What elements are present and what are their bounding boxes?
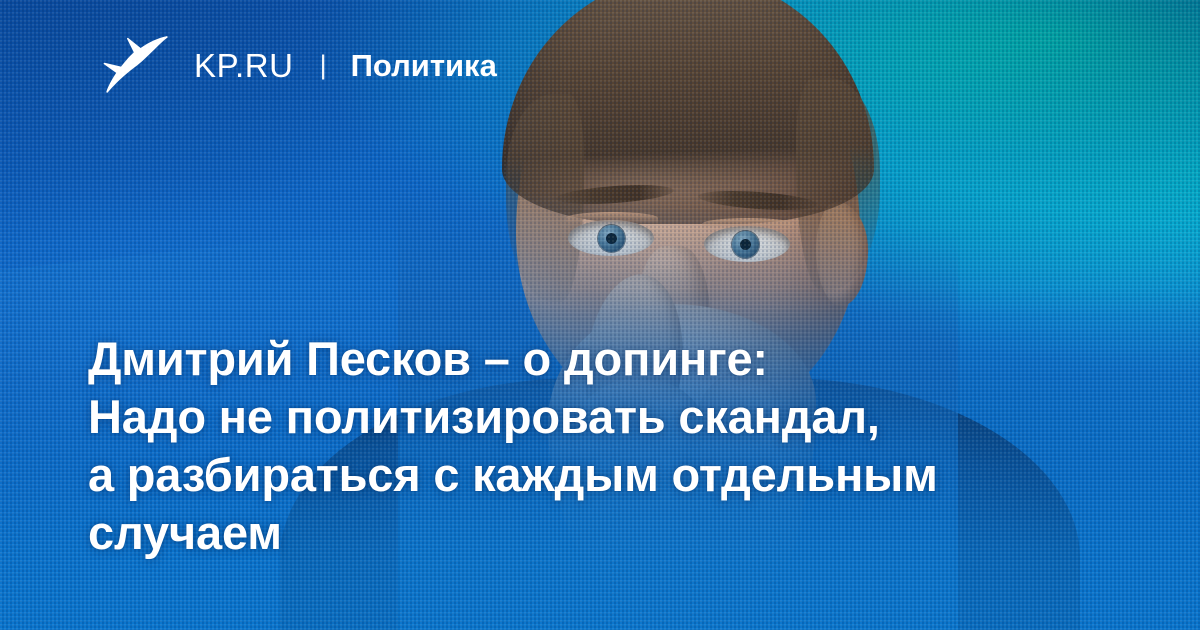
news-share-card: KP.RU | Политика Дмитрий Песков – о допи… [0, 0, 1200, 630]
eye-right [704, 226, 790, 262]
headline-line-2: Надо не политизировать скандал, [88, 388, 1048, 446]
brand-name[interactable]: KP.RU [194, 49, 294, 82]
headline: Дмитрий Песков – о допинге: Надо не поли… [88, 330, 1048, 562]
eyelid-right [702, 218, 794, 230]
section-label-politics[interactable]: Политика [351, 50, 497, 81]
swallow-bird-logo-icon[interactable] [98, 34, 168, 96]
iris-left [598, 225, 625, 252]
brand-header: KP.RU | Политика [98, 34, 497, 96]
headline-line-1: Дмитрий Песков – о допинге: [88, 330, 1048, 388]
headline-line-4: случаем [88, 504, 1048, 562]
eyelid-left [566, 212, 658, 224]
eye-left [568, 220, 654, 256]
pupil-left [606, 233, 617, 244]
pupil-right [740, 239, 751, 250]
header-divider: | [320, 52, 327, 79]
headline-line-3: а разбираться с каждым отдельным [88, 446, 1048, 504]
iris-right [732, 231, 759, 258]
